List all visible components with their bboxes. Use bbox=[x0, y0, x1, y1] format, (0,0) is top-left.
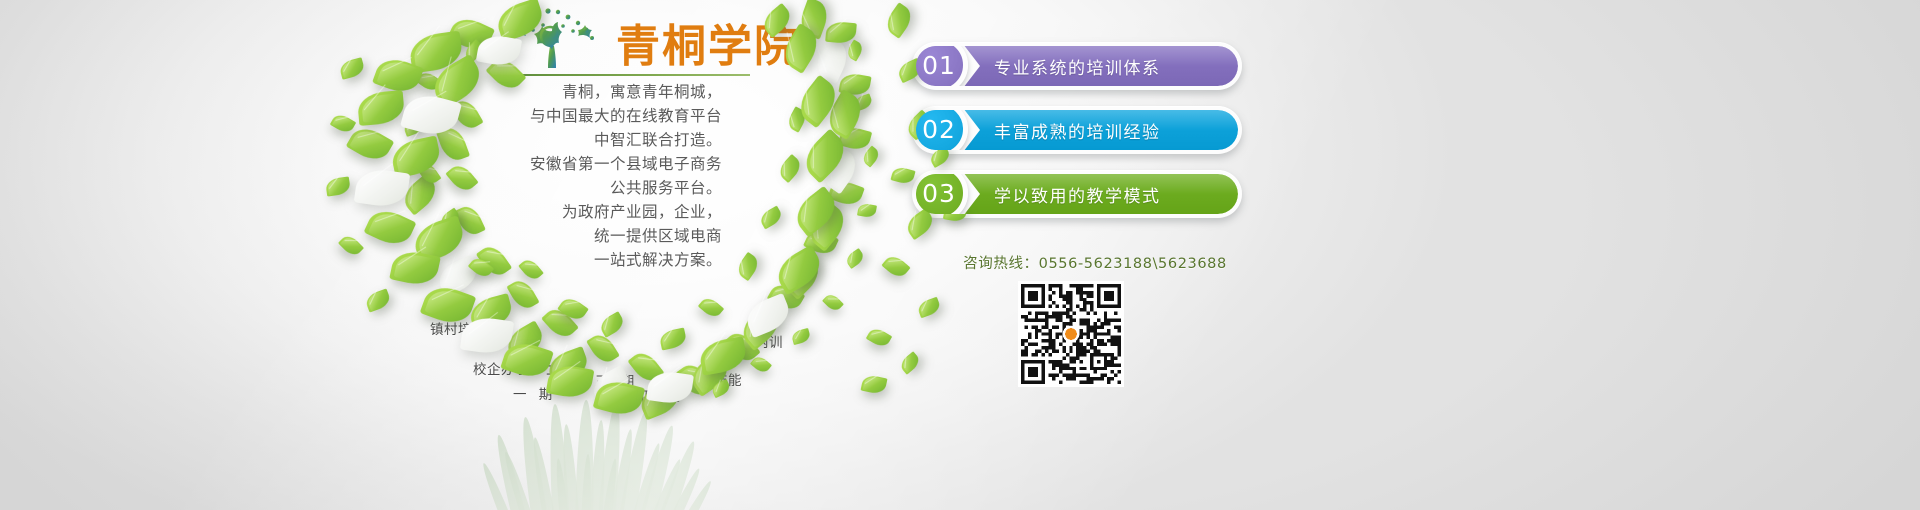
feature-badge-label: 丰富成熟的培训经验 bbox=[980, 118, 1161, 143]
leaf-icon bbox=[597, 311, 626, 338]
grass-blade bbox=[547, 404, 570, 510]
hotline-text: 咨询热线：0556-5623188\5623688 bbox=[950, 252, 1240, 273]
leaf-icon bbox=[866, 326, 893, 350]
logo-divider bbox=[498, 74, 750, 76]
feature-badge-number: 03 bbox=[916, 174, 968, 214]
leaf-icon bbox=[734, 252, 762, 281]
grass-blade bbox=[597, 402, 625, 510]
grass-blade bbox=[617, 410, 653, 510]
leaf-icon bbox=[586, 330, 620, 367]
description-line: 与中国最大的在线教育平台 bbox=[452, 104, 722, 128]
grass-blade bbox=[666, 466, 704, 510]
leaf-icon bbox=[338, 57, 366, 80]
grass-decoration bbox=[505, 398, 735, 510]
qr-code[interactable] bbox=[1018, 281, 1124, 387]
feature-badge-number: 01 bbox=[916, 46, 968, 86]
leaf-icon bbox=[338, 232, 364, 258]
grass-blade bbox=[581, 454, 593, 510]
grass-blade bbox=[655, 439, 700, 510]
grass-blade bbox=[501, 450, 536, 510]
grass-blade bbox=[529, 436, 557, 510]
description-line: 为政府产业园，企业， bbox=[452, 200, 722, 224]
grass-blade bbox=[479, 461, 514, 510]
leaf-icon bbox=[860, 145, 882, 167]
feature-badge-number: 02 bbox=[916, 110, 968, 150]
leaf-icon bbox=[822, 292, 844, 314]
feature-badge-label: 学以致用的教学模式 bbox=[980, 182, 1161, 207]
leaf-icon bbox=[845, 39, 865, 61]
description-line: 安徽省第一个县域电子商务 bbox=[452, 152, 722, 176]
grass-blade bbox=[680, 479, 715, 510]
leaf-icon bbox=[882, 2, 916, 39]
leaf-icon bbox=[898, 351, 922, 375]
grass-blade bbox=[637, 424, 679, 510]
leaf-icon bbox=[364, 288, 392, 312]
grass-blade bbox=[492, 433, 529, 510]
grass-blade bbox=[575, 400, 595, 510]
leaf-icon bbox=[325, 176, 351, 196]
description-text: 青桐，寓意青年桐城，与中国最大的在线教育平台中智汇联合打造。安徽省第一个县域电子… bbox=[452, 80, 722, 272]
grass-blade bbox=[609, 428, 636, 510]
feature-badge-list: 01专业系统的培训体系02丰富成熟的培训经验03学以致用的教学模式 bbox=[912, 42, 1242, 234]
leaf-icon bbox=[860, 374, 887, 396]
leaf-icon bbox=[346, 122, 395, 166]
leaf-icon bbox=[354, 167, 411, 210]
feature-badge-02[interactable]: 02丰富成熟的培训经验 bbox=[912, 106, 1242, 154]
leaf-icon bbox=[698, 295, 724, 321]
leaf-icon bbox=[857, 203, 877, 219]
description-line: 统一提供区域电商 bbox=[452, 224, 722, 248]
leaf-icon bbox=[506, 276, 539, 312]
leaf-icon bbox=[758, 206, 785, 230]
leaf-icon bbox=[881, 252, 910, 280]
leaf-icon bbox=[791, 328, 812, 345]
grass-blade bbox=[647, 458, 684, 510]
leaf-icon bbox=[364, 204, 417, 251]
description-line: 青桐，寓意青年桐城， bbox=[452, 80, 722, 104]
grass-blade bbox=[589, 420, 608, 510]
description-line: 中智汇联合打造。 bbox=[452, 128, 722, 152]
grass-blade bbox=[601, 458, 620, 510]
feature-badge-inner: 02丰富成熟的培训经验 bbox=[916, 110, 1238, 150]
leaf-icon bbox=[330, 112, 357, 136]
feature-badge-inner: 01专业系统的培训体系 bbox=[916, 46, 1238, 86]
leaf-icon bbox=[357, 90, 406, 126]
feature-badge-label: 专业系统的培训体系 bbox=[980, 54, 1161, 79]
grass-blade bbox=[554, 458, 570, 510]
grass-blade bbox=[629, 442, 664, 510]
description-line: 公共服务平台。 bbox=[452, 176, 722, 200]
leaf-icon bbox=[776, 154, 805, 183]
leaf-icon bbox=[844, 248, 866, 269]
grass-blade bbox=[517, 416, 548, 510]
banner-stage: 青桐学院 青桐，寓意青年桐城，与中国最大的在线教育平台中智汇联合打造。安徽省第一… bbox=[0, 0, 1920, 510]
feature-badge-03[interactable]: 03学以致用的教学模式 bbox=[912, 170, 1242, 218]
leaf-icon bbox=[658, 327, 687, 350]
leaf-icon bbox=[916, 297, 942, 319]
feature-badge-inner: 03学以致用的教学模式 bbox=[916, 174, 1238, 214]
grass-blade bbox=[560, 424, 580, 510]
feature-badge-01[interactable]: 01专业系统的培训体系 bbox=[912, 42, 1242, 90]
